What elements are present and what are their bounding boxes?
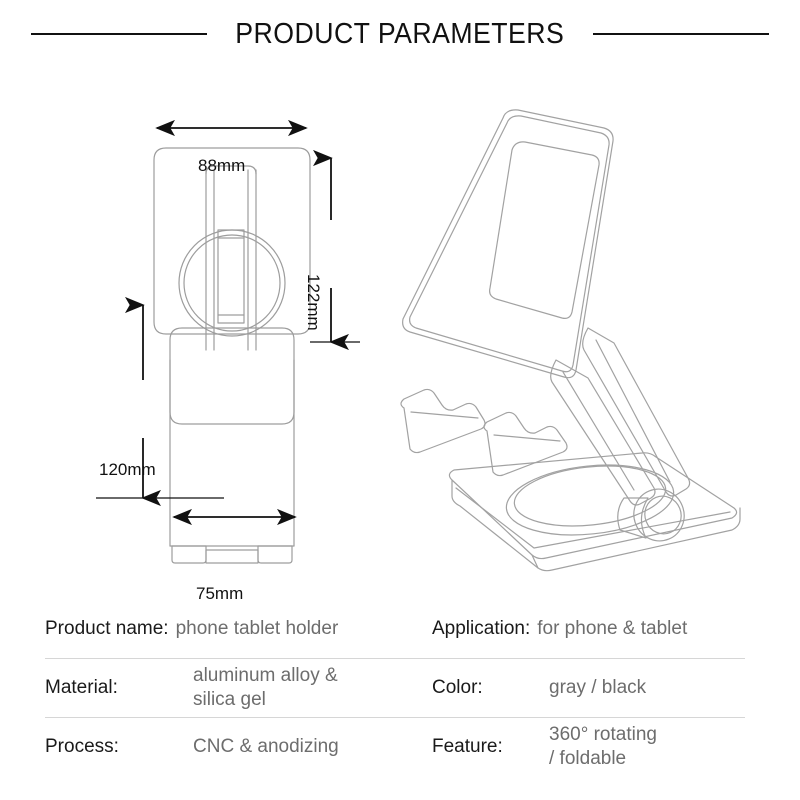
spec-cell-application: Application: for phone & tablet bbox=[432, 600, 745, 658]
spec-label-product-name: Product name: bbox=[45, 618, 169, 640]
spec-value-process: CNC & anodizing bbox=[193, 735, 339, 759]
spec-value-color: gray / black bbox=[549, 676, 646, 700]
product-diagram: 88mm 122mm 120mm 75mm bbox=[0, 60, 800, 600]
page-header: PRODUCT PARAMETERS bbox=[0, 12, 800, 56]
diagram-canvas bbox=[0, 60, 800, 600]
spec-value-application: for phone & tablet bbox=[537, 617, 687, 641]
spec-label-process: Process: bbox=[45, 736, 193, 758]
spec-value-product-name: phone tablet holder bbox=[176, 617, 339, 641]
spec-value-feature: 360° rotating/ foldable bbox=[549, 723, 657, 772]
spec-row-material: Material: aluminum alloy &silica gel Col… bbox=[45, 658, 745, 717]
spec-table: Product name: phone tablet holder Applic… bbox=[45, 600, 745, 776]
spec-row-product-name: Product name: phone tablet holder Applic… bbox=[45, 600, 745, 658]
page-title: PRODUCT PARAMETERS bbox=[236, 18, 565, 51]
dimension-label-122mm: 122mm bbox=[303, 274, 323, 331]
spec-row-process: Process: CNC & anodizing Feature: 360° r… bbox=[45, 717, 745, 776]
perspective-view bbox=[401, 110, 740, 571]
spec-label-material: Material: bbox=[45, 677, 193, 699]
spec-cell-product-name: Product name: phone tablet holder bbox=[45, 600, 432, 658]
spec-label-color: Color: bbox=[432, 677, 549, 699]
spec-value-material: aluminum alloy &silica gel bbox=[193, 664, 338, 713]
spec-cell-process: Process: CNC & anodizing bbox=[45, 718, 432, 776]
spec-cell-material: Material: aluminum alloy &silica gel bbox=[45, 659, 432, 717]
spec-cell-feature: Feature: 360° rotating/ foldable bbox=[432, 718, 745, 776]
header-rule-right bbox=[593, 33, 769, 35]
dimension-label-120mm: 120mm bbox=[99, 460, 156, 480]
spec-cell-color: Color: gray / black bbox=[432, 659, 745, 717]
dimension-label-88mm: 88mm bbox=[198, 156, 245, 176]
spec-label-application: Application: bbox=[432, 618, 530, 640]
technical-view bbox=[154, 148, 310, 563]
spec-label-feature: Feature: bbox=[432, 736, 549, 758]
header-rule-left bbox=[31, 33, 207, 35]
